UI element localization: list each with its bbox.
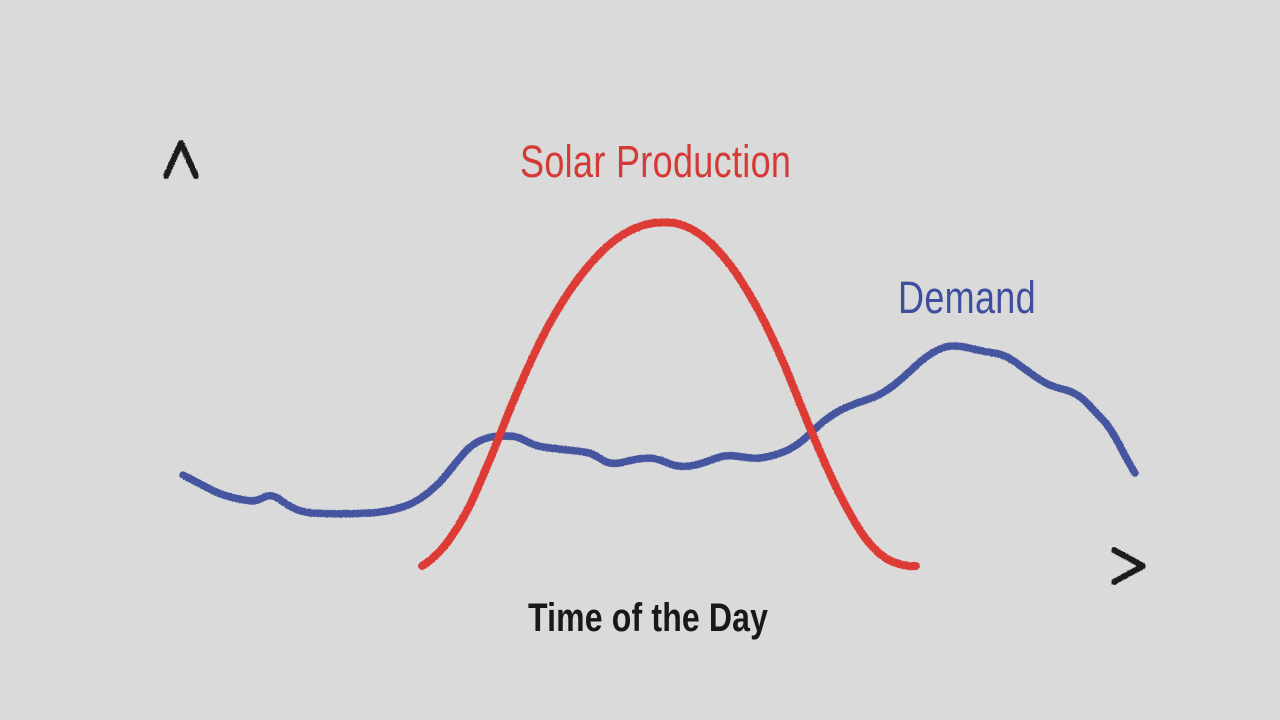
series-solar-line <box>422 222 916 566</box>
chart-canvas: Solar Production Demand Time of the Day <box>0 0 1280 720</box>
series-label-solar-production: Solar Production <box>520 136 791 188</box>
x-axis-label: Time of the Day <box>528 596 768 641</box>
series-demand-line <box>183 346 1135 514</box>
series-label-demand: Demand <box>898 272 1036 324</box>
